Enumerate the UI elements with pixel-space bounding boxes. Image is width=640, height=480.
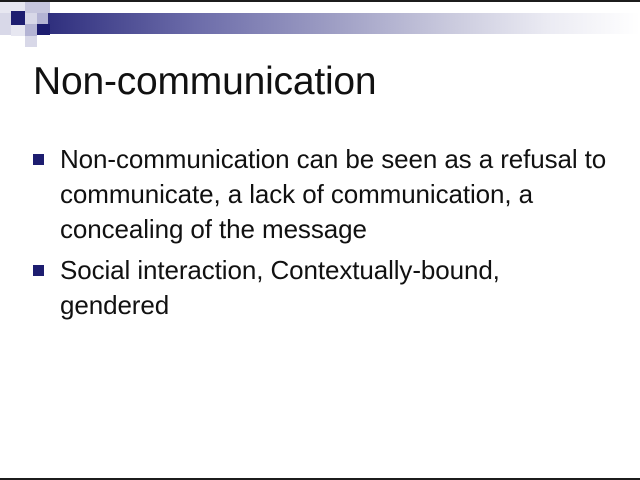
list-item: Non-communication can be seen as a refus…	[33, 142, 608, 247]
decor-square-tint-a	[0, 2, 11, 13]
bullet-text: Social interaction, Contextually-bound, …	[60, 253, 608, 323]
decor-square-bar-cap	[37, 24, 50, 35]
page-title: Non-communication	[33, 59, 608, 105]
slide: Non-communication Non-communication can …	[0, 0, 640, 480]
decor-square-tint-e	[11, 25, 25, 36]
decor-square-tint-h	[25, 24, 37, 36]
header-gradient-bar	[48, 13, 640, 34]
list-item: Social interaction, Contextually-bound, …	[33, 253, 608, 323]
decor-square-accent	[11, 11, 25, 25]
decor-square-tint-d	[11, 2, 25, 11]
decor-square-tint-c	[0, 24, 11, 35]
decor-square-tint-g	[25, 13, 37, 24]
decor-square-tint-b	[0, 13, 11, 24]
slide-body: Non-communication can be seen as a refus…	[33, 142, 608, 329]
decor-square-tint-j	[37, 2, 50, 13]
decor-square-tint-i	[25, 36, 37, 47]
header-decoration	[0, 2, 640, 48]
square-bullet-icon	[33, 265, 44, 276]
decor-square-tint-f	[25, 2, 37, 13]
bullet-text: Non-communication can be seen as a refus…	[60, 142, 608, 247]
square-bullet-icon	[33, 154, 44, 165]
